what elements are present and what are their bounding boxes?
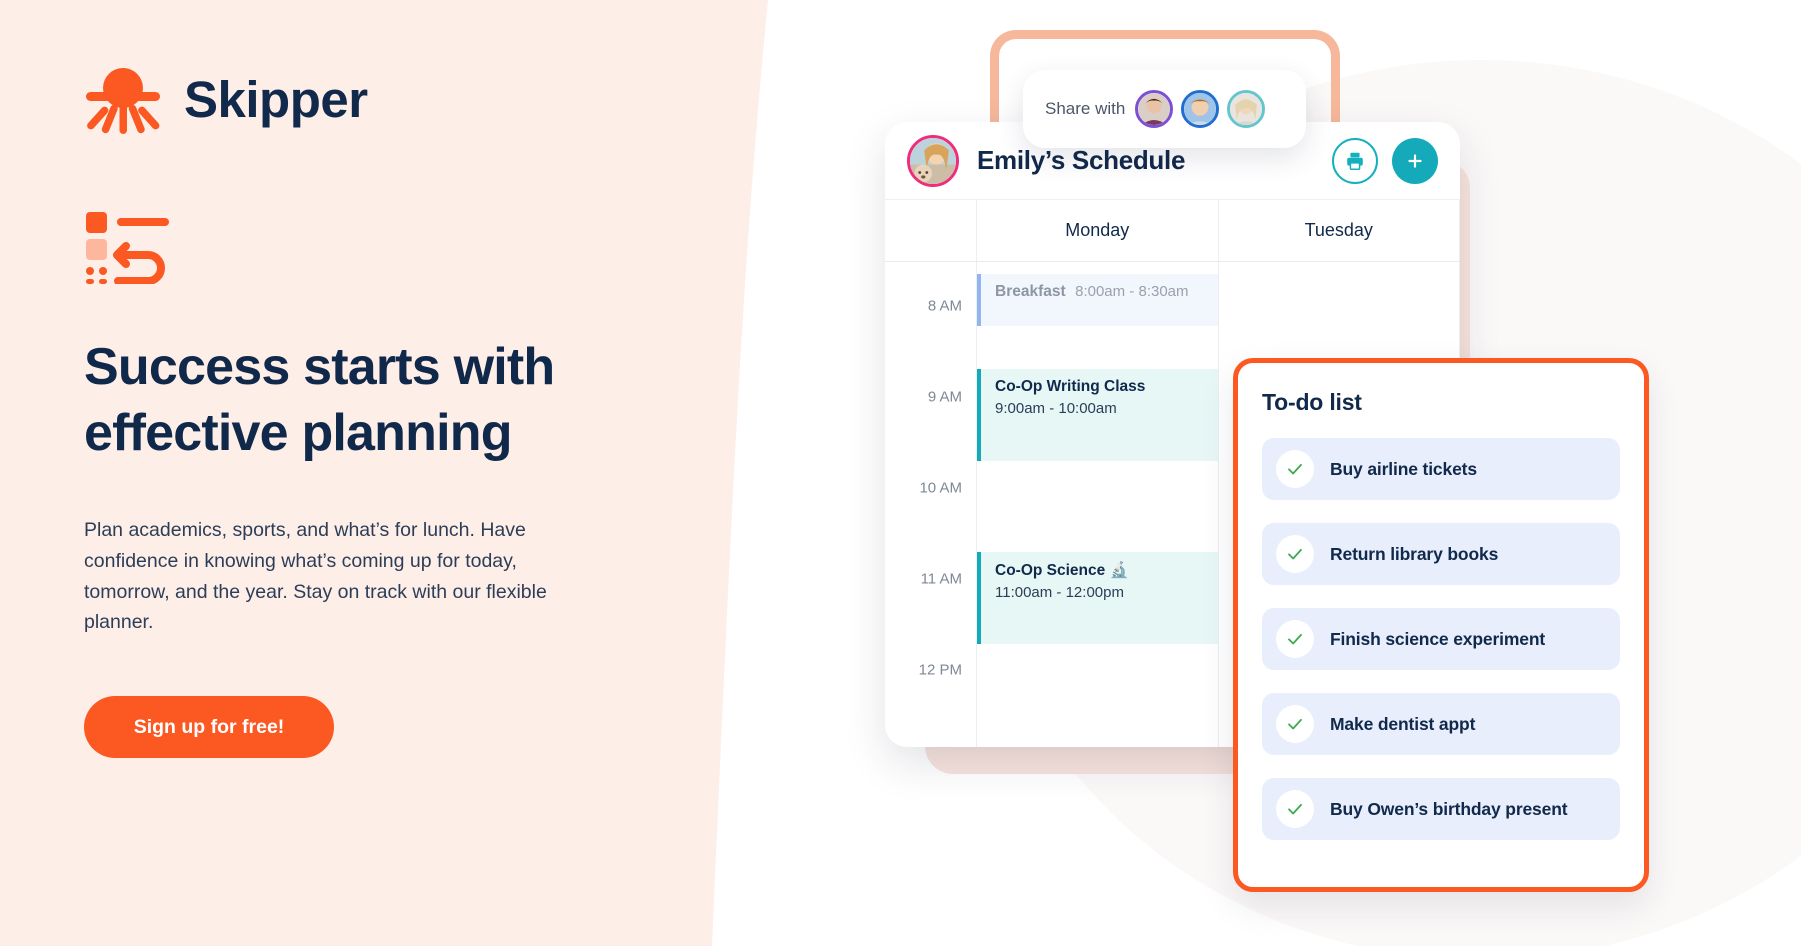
hour-label-9am: 9 AM [928, 389, 962, 406]
list-item[interactable]: Finish science experiment [1262, 608, 1620, 670]
event-co-op-writing-class[interactable]: Co-Op Writing Class 9:00am - 10:00am [977, 369, 1218, 461]
event-title: Co-Op Science 🔬 [995, 561, 1218, 580]
list-item[interactable]: Buy airline tickets [1262, 438, 1620, 500]
list-item[interactable]: Return library books [1262, 523, 1620, 585]
list-item-label: Return library books [1330, 544, 1498, 565]
hero-left-column: Skipper Success starts with effective pl… [84, 0, 684, 946]
todo-title: To-do list [1262, 389, 1620, 416]
page-title: Success starts with effective planning [84, 335, 644, 466]
share-avatar-group [1135, 90, 1265, 128]
schedule-column-monday[interactable]: Breakfast 8:00am - 8:30am Co-Op Writing … [977, 262, 1219, 747]
day-header-monday[interactable]: Monday [977, 200, 1219, 261]
print-button[interactable] [1332, 138, 1378, 184]
hour-label-8am: 8 AM [928, 298, 962, 315]
list-item-label: Buy Owen’s birthday present [1330, 799, 1567, 820]
headline-line-2: effective planning [84, 404, 512, 462]
day-header-tuesday[interactable]: Tuesday [1219, 200, 1461, 261]
event-title: Breakfast [995, 283, 1066, 300]
event-title: Co-Op Writing Class [995, 378, 1218, 396]
event-time: 11:00am - 12:00pm [995, 584, 1218, 601]
schedule-days-row: Monday Tuesday [885, 200, 1460, 262]
hour-label-12pm: 12 PM [919, 662, 962, 679]
event-co-op-science[interactable]: Co-Op Science 🔬 11:00am - 12:00pm [977, 552, 1218, 644]
list-item[interactable]: Make dentist appt [1262, 693, 1620, 755]
share-with-label: Share with [1045, 99, 1125, 119]
day-row-gutter [885, 200, 977, 261]
headline-line-1: Success starts with [84, 338, 554, 396]
list-item-label: Finish science experiment [1330, 629, 1545, 650]
avatar-blue-ring[interactable] [1181, 90, 1219, 128]
hour-label-11am: 11 AM [921, 571, 962, 588]
printer-icon [1344, 150, 1366, 172]
check-icon[interactable] [1276, 535, 1314, 573]
check-icon[interactable] [1276, 705, 1314, 743]
check-icon[interactable] [1276, 450, 1314, 488]
list-undo-icon [86, 212, 172, 284]
check-icon[interactable] [1276, 790, 1314, 828]
check-icon[interactable] [1276, 620, 1314, 658]
event-time: 8:00am - 8:30am [1075, 283, 1188, 300]
hour-label-10am: 10 AM [919, 480, 962, 497]
avatar[interactable] [907, 135, 959, 187]
hour-gutter: 8 AM 9 AM 10 AM 11 AM 12 PM [885, 262, 977, 747]
page-root: Skipper Success starts with effective pl… [0, 0, 1801, 946]
octopus-logo-icon [84, 62, 162, 136]
sign-up-button[interactable]: Sign up for free! [84, 696, 334, 758]
list-item-label: Buy airline tickets [1330, 459, 1477, 480]
event-breakfast[interactable]: Breakfast 8:00am - 8:30am [977, 274, 1218, 326]
list-item[interactable]: Buy Owen’s birthday present [1262, 778, 1620, 840]
share-with-popup: Share with [1023, 70, 1306, 148]
todo-card: To-do list Buy airline tickets Return li… [1233, 358, 1649, 892]
list-item-label: Make dentist appt [1330, 714, 1475, 735]
schedule-title: Emily’s Schedule [977, 145, 1332, 176]
avatar-purple-ring[interactable] [1135, 90, 1173, 128]
plus-icon [1405, 151, 1425, 171]
event-time: 9:00am - 10:00am [995, 400, 1218, 417]
avatar-teal-ring[interactable] [1227, 90, 1265, 128]
brand-lockup: Skipper [84, 62, 368, 136]
brand-name: Skipper [184, 70, 368, 129]
add-event-button[interactable] [1392, 138, 1438, 184]
hero-subcopy: Plan academics, sports, and what’s for l… [84, 515, 584, 638]
